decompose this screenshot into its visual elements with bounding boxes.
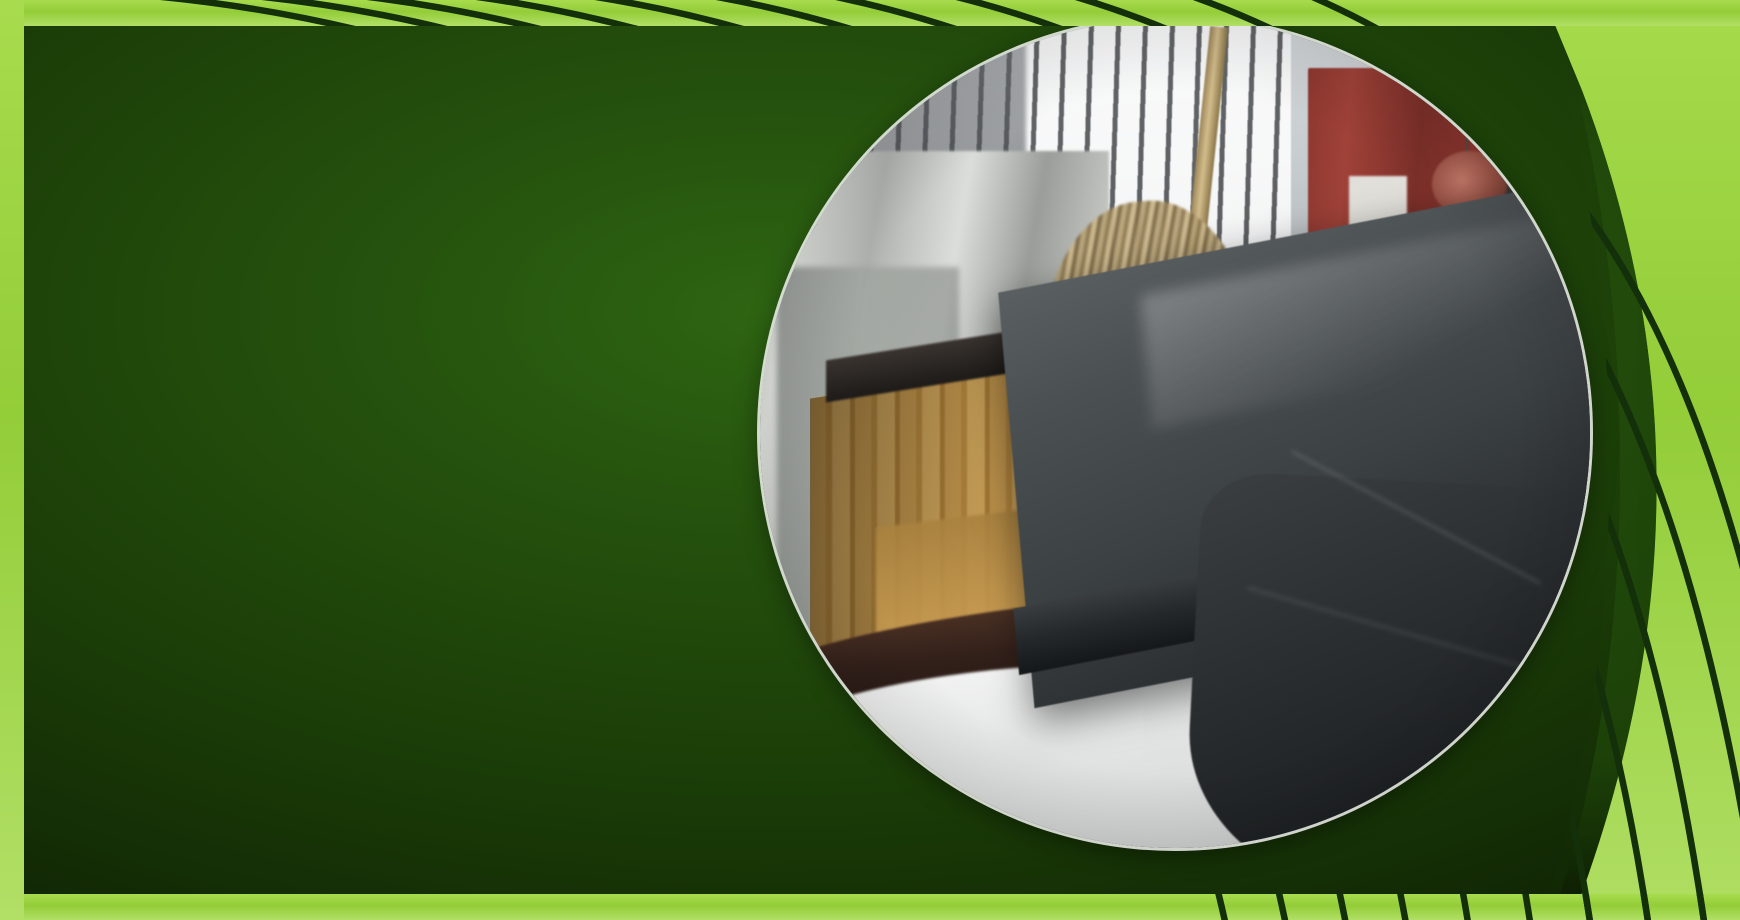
product-photo-final	[760, 18, 1590, 848]
product-photo-image-final	[760, 18, 1590, 848]
list-item-label: НОВАЯ ТЕХНОЛОГИЯ ПОЗВОЛИТ ЗАЩИТИТЬ КУПЕЛ…	[95, 306, 777, 572]
promo-banner: ТЕРМОКРЫШКА ДЛЯ ФУРАКО НОВАЯ ТЕХНОЛОГИЯ …	[0, 0, 1740, 920]
photo-layer-vignette-4	[760, 18, 1590, 848]
bullet-dot-icon	[62, 323, 73, 334]
page-title: ТЕРМОКРЫШКА ДЛЯ ФУРАКО	[62, 52, 739, 190]
